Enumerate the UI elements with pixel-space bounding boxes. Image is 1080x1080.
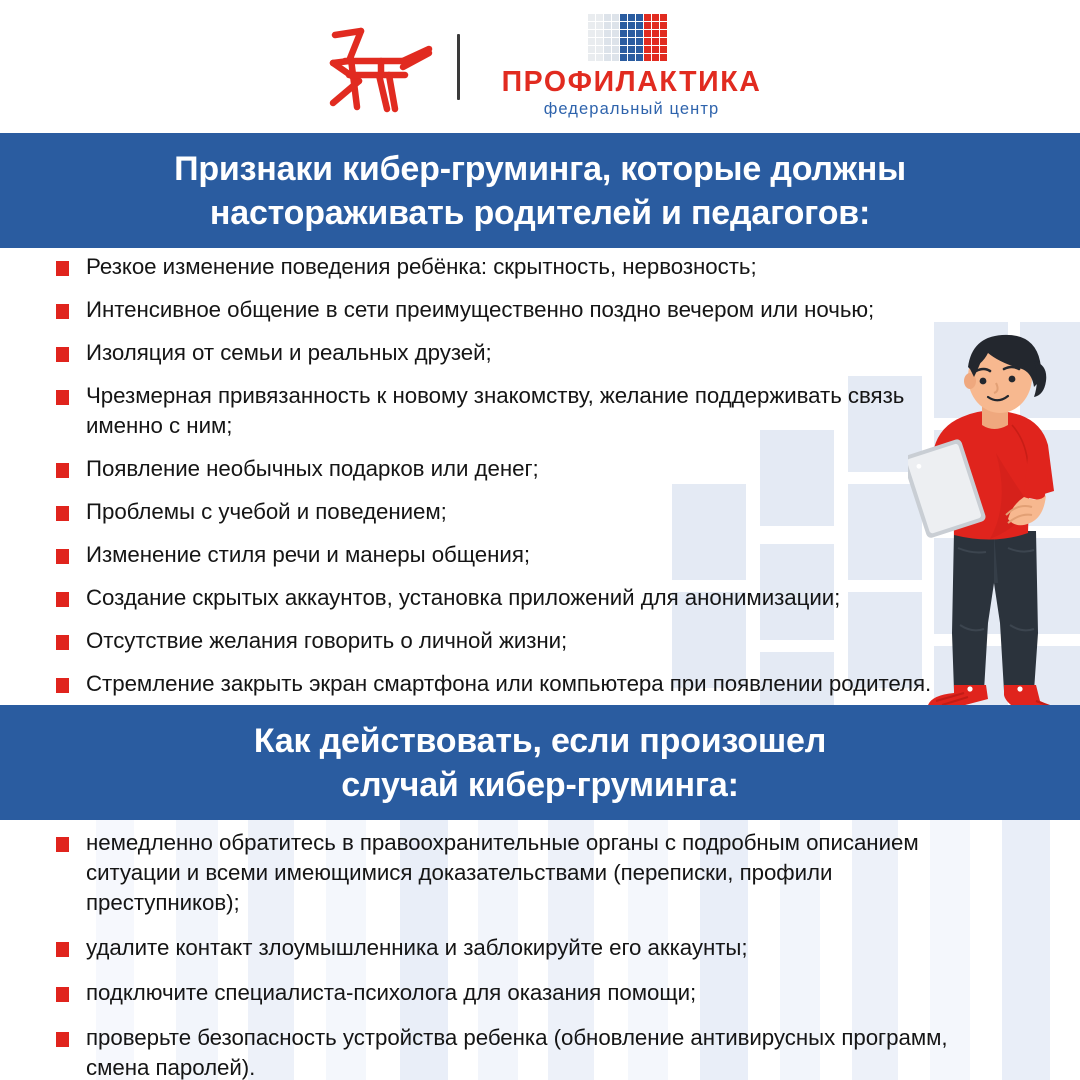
list-item-label: Появление необычных подарков или денег;	[86, 454, 539, 484]
list-item: Появление необычных подарков или денег;	[0, 454, 1080, 484]
banner2-line1: Как действовать, если произошел	[254, 719, 826, 763]
bullet-square-icon	[56, 942, 69, 957]
list-item: Изменение стиля речи и манеры общения;	[0, 540, 1080, 570]
brand-title: ПРОФИЛАКТИКА	[502, 68, 762, 97]
vertical-divider-icon	[457, 34, 460, 100]
bullet-square-icon	[56, 390, 69, 405]
bullet-square-icon	[56, 837, 69, 852]
banner1-line1: Признаки кибер-груминга, которые должны	[174, 147, 906, 191]
list-item-label: Изменение стиля речи и манеры общения;	[86, 540, 530, 570]
brand-subtitle: федеральный центр	[544, 100, 720, 119]
signs-list: Резкое изменение поведения ребёнка: скры…	[0, 252, 1080, 712]
list-item-label: Резкое изменение поведения ребёнка: скры…	[86, 252, 757, 282]
actions-list: немедленно обратитесь в правоохранительн…	[0, 828, 1080, 1080]
brand-lockup: ПРОФИЛАКТИКА федеральный центр	[502, 14, 762, 120]
list-item: Отсутствие желания говорить о личной жиз…	[0, 626, 1080, 656]
list-item-label: Создание скрытых аккаунтов, установка пр…	[86, 583, 840, 613]
list-item: Резкое изменение поведения ребёнка: скры…	[0, 252, 1080, 282]
bullet-square-icon	[56, 987, 69, 1002]
list-item: Чрезмерная привязанность к новому знаком…	[0, 381, 1080, 441]
list-item: Изоляция от семьи и реальных друзей;	[0, 338, 1080, 368]
bullet-square-icon	[56, 592, 69, 607]
bullet-square-icon	[56, 347, 69, 362]
list-item-label: немедленно обратитесь в правоохранительн…	[86, 828, 986, 918]
list-item: подключите специалиста-психолога для ока…	[0, 978, 1080, 1008]
dog-sketch-icon	[319, 17, 439, 117]
list-item-label: проверьте безопасность устройства ребенк…	[86, 1023, 986, 1080]
list-item-label: Проблемы с учебой и поведением;	[86, 497, 447, 527]
list-item-label: Стремление закрыть экран смартфона или к…	[86, 669, 931, 699]
infographic-page: ПРОФИЛАКТИКА федеральный центр	[0, 0, 1080, 1080]
bullet-square-icon	[56, 261, 69, 276]
list-item: удалите контакт злоумышленника и заблоки…	[0, 933, 1080, 963]
list-item: Создание скрытых аккаунтов, установка пр…	[0, 583, 1080, 613]
list-item-label: подключите специалиста-психолога для ока…	[86, 978, 696, 1008]
pixel-grid-icon	[588, 14, 674, 62]
list-item: Проблемы с учебой и поведением;	[0, 497, 1080, 527]
list-item: немедленно обратитесь в правоохранительн…	[0, 828, 1080, 918]
list-item-label: удалите контакт злоумышленника и заблоки…	[86, 933, 748, 963]
bullet-square-icon	[56, 463, 69, 478]
list-item-label: Изоляция от семьи и реальных друзей;	[86, 338, 492, 368]
bullet-square-icon	[56, 304, 69, 319]
header-logo-bar: ПРОФИЛАКТИКА федеральный центр	[0, 0, 1080, 133]
bullet-square-icon	[56, 635, 69, 650]
bullet-square-icon	[56, 549, 69, 564]
list-item: проверьте безопасность устройства ребенк…	[0, 1023, 1080, 1080]
list-item-label: Интенсивное общение в сети преимуществен…	[86, 295, 874, 325]
list-item-label: Отсутствие желания говорить о личной жиз…	[86, 626, 567, 656]
list-item: Интенсивное общение в сети преимуществен…	[0, 295, 1080, 325]
banner-actions-heading: Как действовать, если произошел случай к…	[0, 705, 1080, 820]
banner1-line2: настораживать родителей и педагогов:	[210, 191, 870, 235]
bullet-square-icon	[56, 1032, 69, 1047]
list-item: Стремление закрыть экран смартфона или к…	[0, 669, 1080, 699]
banner2-line2: случай кибер-груминга:	[341, 763, 738, 807]
bullet-square-icon	[56, 678, 69, 693]
bullet-square-icon	[56, 506, 69, 521]
list-item-label: Чрезмерная привязанность к новому знаком…	[86, 381, 976, 441]
banner-signs-heading: Признаки кибер-груминга, которые должны …	[0, 133, 1080, 248]
